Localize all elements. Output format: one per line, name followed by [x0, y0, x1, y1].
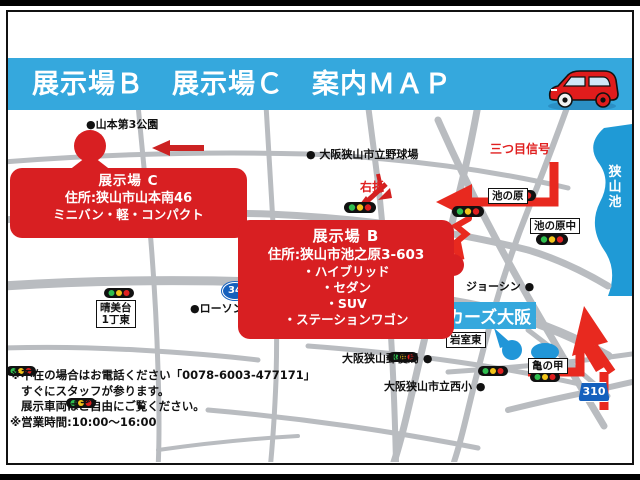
callout-b-item-0: ・ハイブリッド — [238, 264, 454, 280]
annotation-turn-right: 右折 — [360, 178, 384, 195]
intersection-kamenoko: 亀の甲 — [528, 358, 568, 374]
callout-c-address: 住所:狭山市山本南46 — [10, 190, 247, 207]
intersection-ikenohara: 池の原 — [488, 188, 528, 204]
intersection-harumidai: 晴美台 1丁東 — [96, 300, 136, 328]
red-car-icon — [540, 66, 624, 114]
poi-joshin: ジョーシン ● — [466, 278, 534, 294]
intersection-iwamuro-higashi: 岩室東 — [446, 332, 486, 348]
poi-lawson: ●ローソン — [190, 300, 244, 316]
callout-b-item-1: ・セダン — [238, 280, 454, 296]
store-label-carz-osaka: カーズ大阪 — [442, 302, 536, 329]
callout-exhibition-c: 展示場 C 住所:狭山市山本南46 ミニバン・軽・コンパクト — [10, 168, 247, 238]
callout-b-address: 住所:狭山市池之原3-603 — [238, 246, 454, 264]
note-line-2: すぐにスタッフが参ります。 — [10, 384, 315, 400]
route-shield-310: 310 — [578, 382, 610, 402]
page-title: 展示場Ｂ 展示場Ｃ 案内ＭＡＰ — [32, 64, 532, 106]
callout-b-item-2: ・SUV — [238, 296, 454, 312]
harumidai-line2: 1丁東 — [100, 314, 132, 326]
annotation-third-signal: 三つ目信号 — [490, 140, 550, 157]
lake-label: 狭山池 — [606, 165, 624, 210]
callout-exhibition-b: 展示場 B 住所:狭山市池之原3-603 ・ハイブリッド ・セダン ・SUV ・… — [238, 220, 454, 339]
callout-b-item-3: ・ステーションワゴン — [238, 312, 454, 328]
callout-b-name: 展示場 B — [238, 220, 454, 246]
note-line-3: 展示車両はご自由にご覧ください。 — [10, 399, 315, 415]
note-line-4: ※営業時間:10:00〜16:00 — [10, 415, 315, 431]
harumidai-line1: 晴美台 — [100, 302, 132, 314]
callout-c-name: 展示場 C — [10, 168, 247, 190]
screenshot-stage: 展示場Ｂ 展示場Ｃ 案内ＭＡＰ — [0, 0, 640, 480]
footer-notes: ※不在の場合はお電話ください「0078-6003-477171」 すぐにスタッフ… — [10, 368, 315, 430]
intersection-ikenohara-naka: 池の原中 — [530, 218, 580, 234]
poi-post-office: 大阪狭山郵便局 ● — [342, 350, 432, 366]
poi-baseball-stadium: ● 大阪狭山市立野球場 — [306, 146, 418, 162]
note-line-1: ※不在の場合はお電話ください「0078-6003-477171」 — [10, 368, 315, 384]
callout-c-item-0: ミニバン・軽・コンパクト — [10, 207, 247, 223]
map-flyer: 展示場Ｂ 展示場Ｃ 案内ＭＡＰ — [0, 6, 640, 474]
poi-nishi-elementary: 大阪狭山市立西小 ● — [384, 378, 485, 394]
poi-yamamoto-park: ●山本第3公園 — [86, 116, 158, 132]
